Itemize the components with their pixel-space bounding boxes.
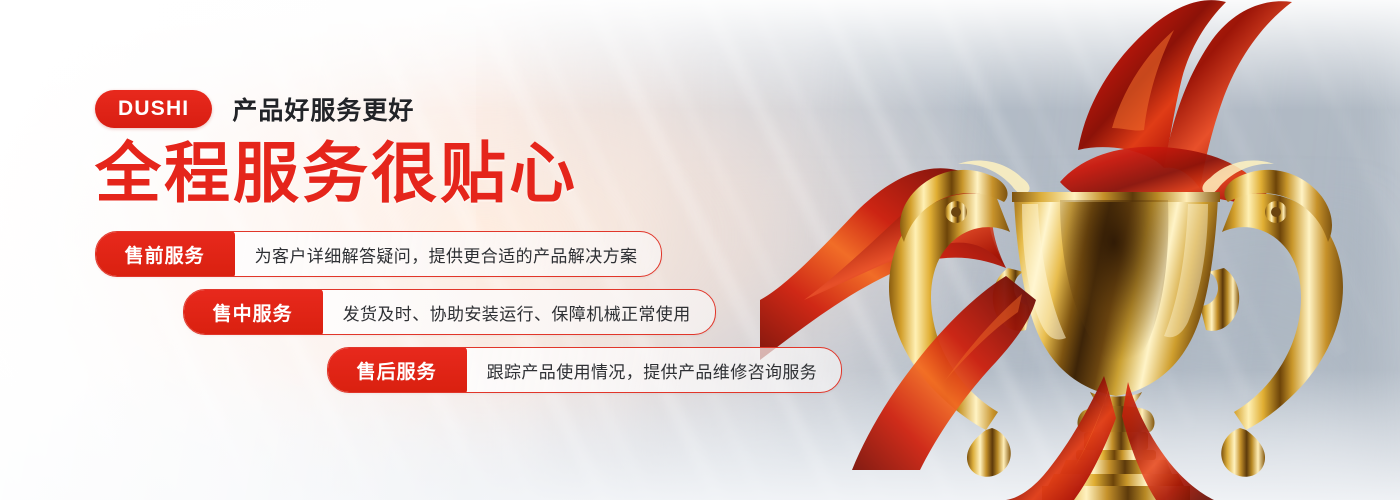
banner-content: DUSHI 产品好服务更好 全程服务很贴心 售前服务 为客户详细解答疑问，提供更… <box>95 88 855 405</box>
trophy-illustration <box>760 0 1400 500</box>
service-capsule: 售中服务 发货及时、协助安装运行、保障机械正常使用 <box>183 289 716 335</box>
page-title: 全程服务很贴心 <box>95 138 855 209</box>
service-description: 跟踪产品使用情况，提供产品维修咨询服务 <box>467 348 842 392</box>
brand-badge: DUSHI <box>95 90 212 128</box>
service-row-aftersales: 售后服务 跟踪产品使用情况，提供产品维修咨询服务 <box>327 347 855 393</box>
service-capsule: 售后服务 跟踪产品使用情况，提供产品维修咨询服务 <box>327 347 842 393</box>
service-label: 售前服务 <box>95 231 235 277</box>
service-capsule: 售前服务 为客户详细解答疑问，提供更合适的产品解决方案 <box>95 231 662 277</box>
service-label: 售后服务 <box>327 347 467 393</box>
eyebrow-row: DUSHI 产品好服务更好 <box>95 88 855 130</box>
service-label: 售中服务 <box>183 289 323 335</box>
service-row-insales: 售中服务 发货及时、协助安装运行、保障机械正常使用 <box>183 289 855 335</box>
service-description: 为客户详细解答疑问，提供更合适的产品解决方案 <box>235 232 662 276</box>
promo-banner: DUSHI 产品好服务更好 全程服务很贴心 售前服务 为客户详细解答疑问，提供更… <box>0 0 1400 500</box>
service-row-presales: 售前服务 为客户详细解答疑问，提供更合适的产品解决方案 <box>95 231 855 277</box>
service-description: 发货及时、协助安装运行、保障机械正常使用 <box>323 290 715 334</box>
service-list: 售前服务 为客户详细解答疑问，提供更合适的产品解决方案 售中服务 发货及时、协助… <box>95 231 855 393</box>
eyebrow-text: 产品好服务更好 <box>232 91 414 127</box>
